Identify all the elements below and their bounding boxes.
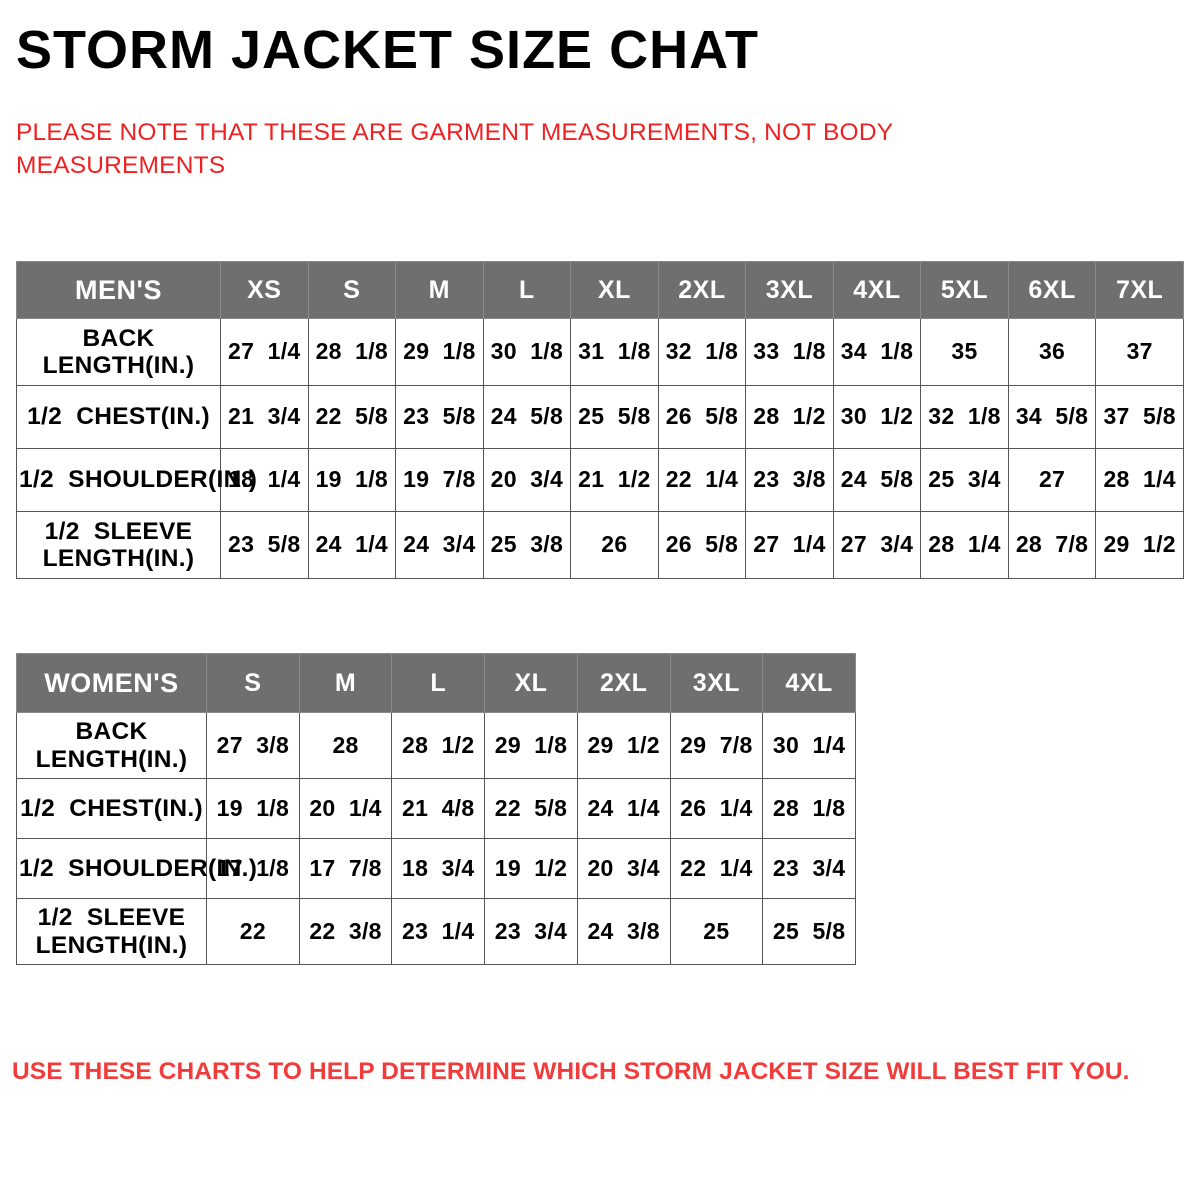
mens-measurement-value: 33 1/8	[746, 319, 834, 386]
mens-size-header-xl: XL	[571, 262, 659, 319]
womens-header-row: WOMEN'S SMLXL2XL3XL4XL	[17, 654, 856, 713]
mens-measurement-value: 31 1/8	[571, 319, 659, 386]
womens-measurement-label: 1/2 SHOULDER(IN.)	[17, 839, 207, 899]
womens-table-header: WOMEN'S SMLXL2XL3XL4XL	[17, 654, 856, 713]
womens-size-header-3xl: 3XL	[670, 654, 763, 713]
womens-corner-label: WOMEN'S	[17, 654, 207, 713]
mens-measurement-value: 24 5/8	[833, 449, 921, 512]
mens-measurement-value: 29 1/8	[396, 319, 484, 386]
label-line: LENGTH(IN.)	[36, 746, 188, 773]
womens-measurement-value: 23 3/4	[763, 839, 856, 899]
mens-table-row: BACKLENGTH(IN.)27 1/428 1/829 1/830 1/83…	[17, 319, 1184, 386]
label-line: LENGTH(IN.)	[43, 545, 195, 572]
mens-measurement-value: 30 1/2	[833, 386, 921, 449]
womens-size-header-m: M	[299, 654, 392, 713]
womens-measurement-value: 20 3/4	[577, 839, 670, 899]
label-line: 1/2 SLEEVE	[38, 904, 186, 931]
womens-table-row: 1/2 SHOULDER(IN.)17 1/817 7/818 3/419 1/…	[17, 839, 856, 899]
womens-measurement-value: 17 1/8	[207, 839, 300, 899]
womens-table-row: 1/2 CHEST(IN.)19 1/820 1/421 4/822 5/824…	[17, 779, 856, 839]
mens-measurement-value: 28 1/4	[921, 512, 1009, 579]
label-line: 1/2 CHEST(IN.)	[27, 403, 210, 430]
mens-measurement-value: 23 5/8	[221, 512, 309, 579]
mens-measurement-label: BACKLENGTH(IN.)	[17, 319, 221, 386]
mens-corner-label: MEN'S	[17, 262, 221, 319]
womens-size-header-4xl: 4XL	[763, 654, 856, 713]
mens-size-header-m: M	[396, 262, 484, 319]
mens-size-header-2xl: 2XL	[658, 262, 746, 319]
womens-size-table: WOMEN'S SMLXL2XL3XL4XL BACKLENGTH(IN.)27…	[16, 653, 856, 965]
mens-measurement-value: 23 3/8	[746, 449, 834, 512]
womens-table-row: BACKLENGTH(IN.)27 3/82828 1/229 1/829 1/…	[17, 713, 856, 779]
mens-measurement-value: 28 1/2	[746, 386, 834, 449]
womens-measurement-value: 23 3/4	[485, 899, 578, 965]
mens-measurement-value: 32 1/8	[658, 319, 746, 386]
mens-table-row: 1/2 CHEST(IN.)21 3/422 5/823 5/824 5/825…	[17, 386, 1184, 449]
mens-measurement-value: 29 1/2	[1096, 512, 1184, 579]
size-chart-page: STORM JACKET SIZE CHAT PLEASE NOTE THAT …	[0, 0, 1200, 1200]
mens-size-table: MEN'S XSSMLXL2XL3XL4XL5XL6XL7XL BACKLENG…	[16, 261, 1184, 579]
womens-table-row: 1/2 SLEEVELENGTH(IN.)2222 3/823 1/423 3/…	[17, 899, 856, 965]
mens-measurement-value: 37 5/8	[1096, 386, 1184, 449]
mens-measurement-label: 1/2 CHEST(IN.)	[17, 386, 221, 449]
mens-size-header-xs: XS	[221, 262, 309, 319]
womens-measurement-value: 29 1/2	[577, 713, 670, 779]
mens-measurement-value: 24 1/4	[308, 512, 396, 579]
mens-measurement-value: 25 3/8	[483, 512, 571, 579]
mens-size-header-6xl: 6XL	[1008, 262, 1096, 319]
mens-measurement-value: 21 3/4	[221, 386, 309, 449]
womens-size-header-l: L	[392, 654, 485, 713]
mens-measurement-value: 26	[571, 512, 659, 579]
mens-measurement-value: 28 1/4	[1096, 449, 1184, 512]
page-title: STORM JACKET SIZE CHAT	[16, 22, 759, 79]
mens-measurement-value: 26 5/8	[658, 512, 746, 579]
label-line: LENGTH(IN.)	[43, 352, 195, 379]
womens-measurement-value: 22 5/8	[485, 779, 578, 839]
womens-measurement-value: 20 1/4	[299, 779, 392, 839]
mens-measurement-value: 23 5/8	[396, 386, 484, 449]
mens-size-header-3xl: 3XL	[746, 262, 834, 319]
mens-measurement-value: 27	[1008, 449, 1096, 512]
womens-measurement-value: 19 1/2	[485, 839, 578, 899]
mens-measurement-label: 1/2 SHOULDER(IN.)	[17, 449, 221, 512]
womens-measurement-label: 1/2 CHEST(IN.)	[17, 779, 207, 839]
womens-measurement-value: 25 5/8	[763, 899, 856, 965]
womens-measurement-value: 24 3/8	[577, 899, 670, 965]
label-line: 1/2 CHEST(IN.)	[20, 795, 203, 822]
mens-measurement-value: 32 1/8	[921, 386, 1009, 449]
label-line: 1/2 SLEEVE	[45, 518, 193, 545]
mens-measurement-value: 27 1/4	[221, 319, 309, 386]
mens-measurement-value: 24 5/8	[483, 386, 571, 449]
womens-measurement-value: 28 1/8	[763, 779, 856, 839]
womens-measurement-value: 22 1/4	[670, 839, 763, 899]
mens-table-header: MEN'S XSSMLXL2XL3XL4XL5XL6XL7XL	[17, 262, 1184, 319]
womens-measurement-value: 17 7/8	[299, 839, 392, 899]
mens-size-header-l: L	[483, 262, 571, 319]
womens-measurement-value: 23 1/4	[392, 899, 485, 965]
mens-measurement-value: 30 1/8	[483, 319, 571, 386]
mens-measurement-value: 34 5/8	[1008, 386, 1096, 449]
label-line: LENGTH(IN.)	[36, 932, 188, 959]
mens-measurement-value: 22 5/8	[308, 386, 396, 449]
mens-measurement-value: 24 3/4	[396, 512, 484, 579]
womens-size-header-xl: XL	[485, 654, 578, 713]
womens-measurement-value: 21 4/8	[392, 779, 485, 839]
help-determine-note: USE THESE CHARTS TO HELP DETERMINE WHICH…	[12, 1056, 1172, 1088]
label-line: BACK	[83, 325, 155, 352]
mens-measurement-value: 19 1/8	[308, 449, 396, 512]
mens-measurement-label: 1/2 SLEEVELENGTH(IN.)	[17, 512, 221, 579]
womens-measurement-value: 18 3/4	[392, 839, 485, 899]
mens-measurement-value: 35	[921, 319, 1009, 386]
mens-measurement-value: 34 1/8	[833, 319, 921, 386]
mens-measurement-value: 26 5/8	[658, 386, 746, 449]
womens-measurement-value: 26 1/4	[670, 779, 763, 839]
mens-header-row: MEN'S XSSMLXL2XL3XL4XL5XL6XL7XL	[17, 262, 1184, 319]
mens-measurement-value: 37	[1096, 319, 1184, 386]
mens-measurement-value: 21 1/2	[571, 449, 659, 512]
mens-measurement-value: 28 7/8	[1008, 512, 1096, 579]
womens-measurement-value: 29 1/8	[485, 713, 578, 779]
mens-table-body: BACKLENGTH(IN.)27 1/428 1/829 1/830 1/83…	[17, 319, 1184, 579]
womens-measurement-value: 28	[299, 713, 392, 779]
womens-measurement-value: 28 1/2	[392, 713, 485, 779]
mens-measurement-value: 18 1/4	[221, 449, 309, 512]
womens-measurement-value: 30 1/4	[763, 713, 856, 779]
womens-measurement-value: 25	[670, 899, 763, 965]
mens-table-row: 1/2 SHOULDER(IN.)18 1/419 1/819 7/820 3/…	[17, 449, 1184, 512]
label-line: 1/2 SHOULDER(IN.)	[19, 466, 257, 493]
mens-measurement-value: 25 5/8	[571, 386, 659, 449]
womens-measurement-value: 24 1/4	[577, 779, 670, 839]
label-line: BACK	[76, 718, 148, 745]
mens-measurement-value: 22 1/4	[658, 449, 746, 512]
womens-measurement-value: 22	[207, 899, 300, 965]
mens-measurement-value: 36	[1008, 319, 1096, 386]
mens-measurement-value: 27 3/4	[833, 512, 921, 579]
womens-size-header-s: S	[207, 654, 300, 713]
mens-measurement-value: 19 7/8	[396, 449, 484, 512]
womens-table-body: BACKLENGTH(IN.)27 3/82828 1/229 1/829 1/…	[17, 713, 856, 965]
mens-size-header-7xl: 7XL	[1096, 262, 1184, 319]
womens-measurement-value: 19 1/8	[207, 779, 300, 839]
mens-size-header-4xl: 4XL	[833, 262, 921, 319]
womens-measurement-value: 29 7/8	[670, 713, 763, 779]
womens-measurement-value: 22 3/8	[299, 899, 392, 965]
mens-table-row: 1/2 SLEEVELENGTH(IN.)23 5/824 1/424 3/42…	[17, 512, 1184, 579]
mens-measurement-value: 20 3/4	[483, 449, 571, 512]
womens-measurement-label: BACKLENGTH(IN.)	[17, 713, 207, 779]
mens-measurement-value: 28 1/8	[308, 319, 396, 386]
garment-measurement-note: PLEASE NOTE THAT THESE ARE GARMENT MEASU…	[16, 116, 976, 182]
womens-measurement-value: 27 3/8	[207, 713, 300, 779]
mens-measurement-value: 25 3/4	[921, 449, 1009, 512]
mens-size-header-5xl: 5XL	[921, 262, 1009, 319]
mens-measurement-value: 27 1/4	[746, 512, 834, 579]
womens-measurement-label: 1/2 SLEEVELENGTH(IN.)	[17, 899, 207, 965]
womens-size-header-2xl: 2XL	[577, 654, 670, 713]
mens-size-header-s: S	[308, 262, 396, 319]
